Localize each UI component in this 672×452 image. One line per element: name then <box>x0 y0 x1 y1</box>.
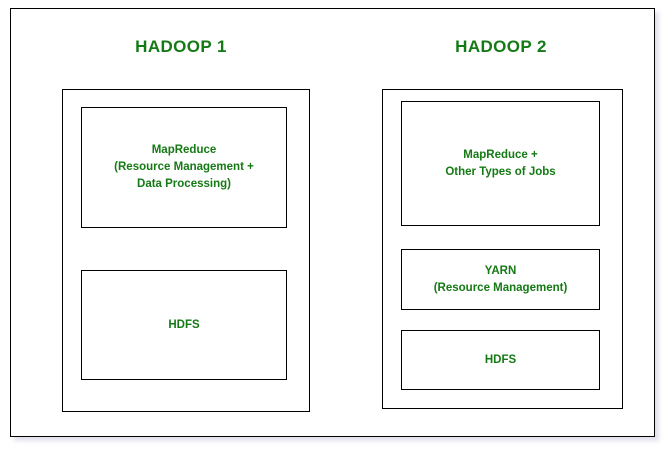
component-box-hdfs-v1: HDFS <box>81 270 287 380</box>
diagram-canvas: HADOOP 1 HADOOP 2 MapReduce (Resource Ma… <box>0 0 672 452</box>
component-box-yarn: YARN (Resource Management) <box>401 249 600 310</box>
column-title-hadoop1: HADOOP 1 <box>101 37 261 57</box>
component-label-hdfs-v2: HDFS <box>485 352 516 369</box>
column-title-hadoop2: HADOOP 2 <box>421 37 581 57</box>
group-box-hadoop2: MapReduce + Other Types of Jobs YARN (Re… <box>382 89 623 409</box>
component-box-mapreduce-v1: MapReduce (Resource Management + Data Pr… <box>81 107 287 228</box>
component-label-hdfs-v1: HDFS <box>168 317 199 334</box>
component-box-mapreduce-v2: MapReduce + Other Types of Jobs <box>401 101 600 226</box>
group-box-hadoop1: MapReduce (Resource Management + Data Pr… <box>62 89 310 412</box>
diagram-outer-frame: HADOOP 1 HADOOP 2 MapReduce (Resource Ma… <box>10 8 655 437</box>
component-box-hdfs-v2: HDFS <box>401 330 600 390</box>
component-label-yarn: YARN (Resource Management) <box>434 263 568 297</box>
component-label-mapreduce-v2: MapReduce + Other Types of Jobs <box>445 147 555 181</box>
component-label-mapreduce-v1: MapReduce (Resource Management + Data Pr… <box>114 142 254 193</box>
